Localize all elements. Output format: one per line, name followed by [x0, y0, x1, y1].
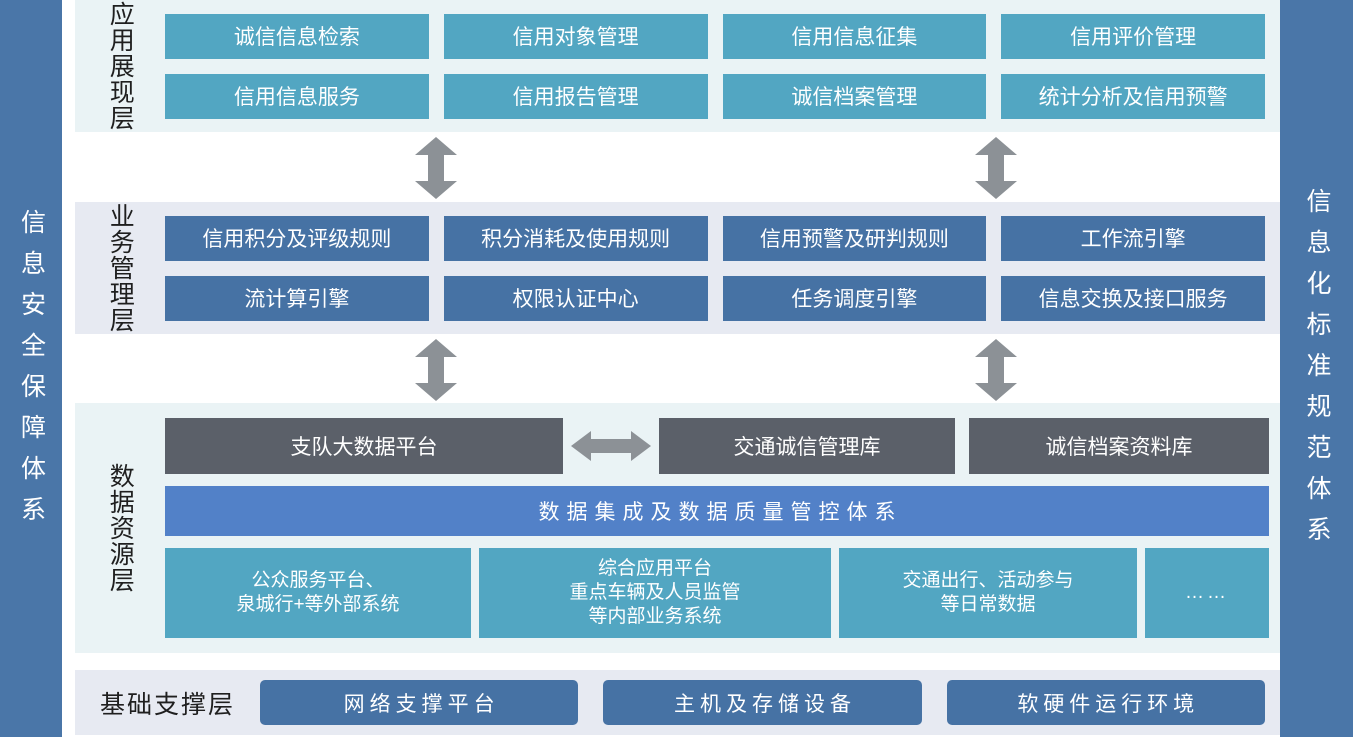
security-rail: 信息安全保障体系: [0, 0, 62, 737]
data-source-row: 公众服务平台、泉城行+等外部系统 综合应用平台重点车辆及人员监管等内部业务系统 …: [165, 548, 1269, 638]
data-resource-layer-label: 数据资源层: [75, 463, 165, 593]
infra-network-platform[interactable]: 网络支撑平台: [260, 680, 578, 725]
source-ellipsis: ……: [1145, 548, 1269, 638]
app-module-credit-info-collection[interactable]: 信用信息征集: [723, 14, 987, 59]
database-row: 支队大数据平台 交通诚信管理库 诚信档案资料库: [165, 418, 1269, 474]
data-integration-quality-bar: 数据集成及数据质量管控体系: [165, 486, 1269, 536]
biz-module-score-usage-rules[interactable]: 积分消耗及使用规则: [444, 216, 708, 261]
app-module-credit-subject-mgmt[interactable]: 信用对象管理: [444, 14, 708, 59]
app-module-credit-info-service[interactable]: 信用信息服务: [165, 74, 429, 119]
biz-module-alert-judgement-rules[interactable]: 信用预警及研判规则: [723, 216, 987, 261]
application-layer-label: 应用展现层: [75, 1, 165, 131]
biz-module-auth-center[interactable]: 权限认证中心: [444, 276, 708, 321]
biz-module-task-scheduler-engine[interactable]: 任务调度引擎: [723, 276, 987, 321]
biz-module-exchange-interface-service[interactable]: 信息交换及接口服务: [1001, 276, 1265, 321]
security-rail-label: 信息安全保障体系: [19, 201, 44, 537]
infrastructure-row: 网络支撑平台 主机及存储设备 软硬件运行环境: [260, 680, 1280, 725]
app-module-credit-report-mgmt[interactable]: 信用报告管理: [444, 74, 708, 119]
data-resource-layer-body: 支队大数据平台 交通诚信管理库 诚信档案资料库 数据集成及数据质量管控体系 公众…: [165, 418, 1284, 638]
infrastructure-layer-label: 基础支撑层: [75, 685, 260, 721]
arrow-platform-db: [563, 418, 659, 474]
application-row-2: 信用信息服务 信用报告管理 诚信档案管理 统计分析及信用预警: [165, 74, 1265, 119]
app-module-credit-search[interactable]: 诚信信息检索: [165, 14, 429, 59]
infrastructure-layer: 基础支撑层 网络支撑平台 主机及存储设备 软硬件运行环境: [75, 670, 1280, 735]
infra-host-storage[interactable]: 主机及存储设备: [603, 680, 921, 725]
layer-stack: 应用展现层 诚信信息检索 信用对象管理 信用信息征集 信用评价管理 信用信息服务…: [75, 0, 1280, 737]
db-credit-archive-repository[interactable]: 诚信档案资料库: [969, 418, 1269, 474]
business-layer-body: 信用积分及评级规则 积分消耗及使用规则 信用预警及研判规则 工作流引擎 流计算引…: [165, 216, 1280, 321]
app-module-credit-evaluation-mgmt[interactable]: 信用评价管理: [1001, 14, 1265, 59]
arrow-app-biz-left: [413, 137, 459, 199]
db-big-data-platform[interactable]: 支队大数据平台: [165, 418, 563, 474]
standards-rail: 信息化标准规范体系: [1280, 0, 1353, 737]
data-resource-layer: 数据资源层 支队大数据平台 交通诚信管理库 诚信档案资料库 数据集成及数据质量管…: [75, 403, 1280, 653]
architecture-diagram: 信息安全保障体系 信息化标准规范体系 应用展现层 诚信信息检索 信用对象管理 信…: [0, 0, 1353, 737]
biz-module-workflow-engine[interactable]: 工作流引擎: [1001, 216, 1265, 261]
arrow-app-biz-right: [973, 137, 1019, 199]
business-layer: 业务管理层 信用积分及评级规则 积分消耗及使用规则 信用预警及研判规则 工作流引…: [75, 202, 1280, 334]
source-internal-systems[interactable]: 综合应用平台重点车辆及人员监管等内部业务系统: [479, 548, 831, 638]
application-layer: 应用展现层 诚信信息检索 信用对象管理 信用信息征集 信用评价管理 信用信息服务…: [75, 0, 1280, 132]
db-traffic-credit-repository[interactable]: 交通诚信管理库: [659, 418, 955, 474]
source-external-systems[interactable]: 公众服务平台、泉城行+等外部系统: [165, 548, 471, 638]
business-row-2: 流计算引擎 权限认证中心 任务调度引擎 信息交换及接口服务: [165, 276, 1265, 321]
business-row-1: 信用积分及评级规则 积分消耗及使用规则 信用预警及研判规则 工作流引擎: [165, 216, 1265, 261]
business-layer-label: 业务管理层: [75, 203, 165, 333]
source-daily-travel-data[interactable]: 交通出行、活动参与等日常数据: [839, 548, 1137, 638]
application-row-1: 诚信信息检索 信用对象管理 信用信息征集 信用评价管理: [165, 14, 1265, 59]
infrastructure-layer-body: 网络支撑平台 主机及存储设备 软硬件运行环境: [260, 680, 1280, 725]
arrow-biz-data-left: [413, 339, 459, 401]
arrow-biz-data-right: [973, 339, 1019, 401]
application-layer-body: 诚信信息检索 信用对象管理 信用信息征集 信用评价管理 信用信息服务 信用报告管…: [165, 14, 1280, 119]
biz-module-stream-compute-engine[interactable]: 流计算引擎: [165, 276, 429, 321]
infra-runtime-environment[interactable]: 软硬件运行环境: [947, 680, 1265, 725]
app-module-analysis-and-alert[interactable]: 统计分析及信用预警: [1001, 74, 1265, 119]
biz-module-score-rating-rules[interactable]: 信用积分及评级规则: [165, 216, 429, 261]
standards-rail-label: 信息化标准规范体系: [1304, 180, 1329, 557]
app-module-credit-archive-mgmt[interactable]: 诚信档案管理: [723, 74, 987, 119]
